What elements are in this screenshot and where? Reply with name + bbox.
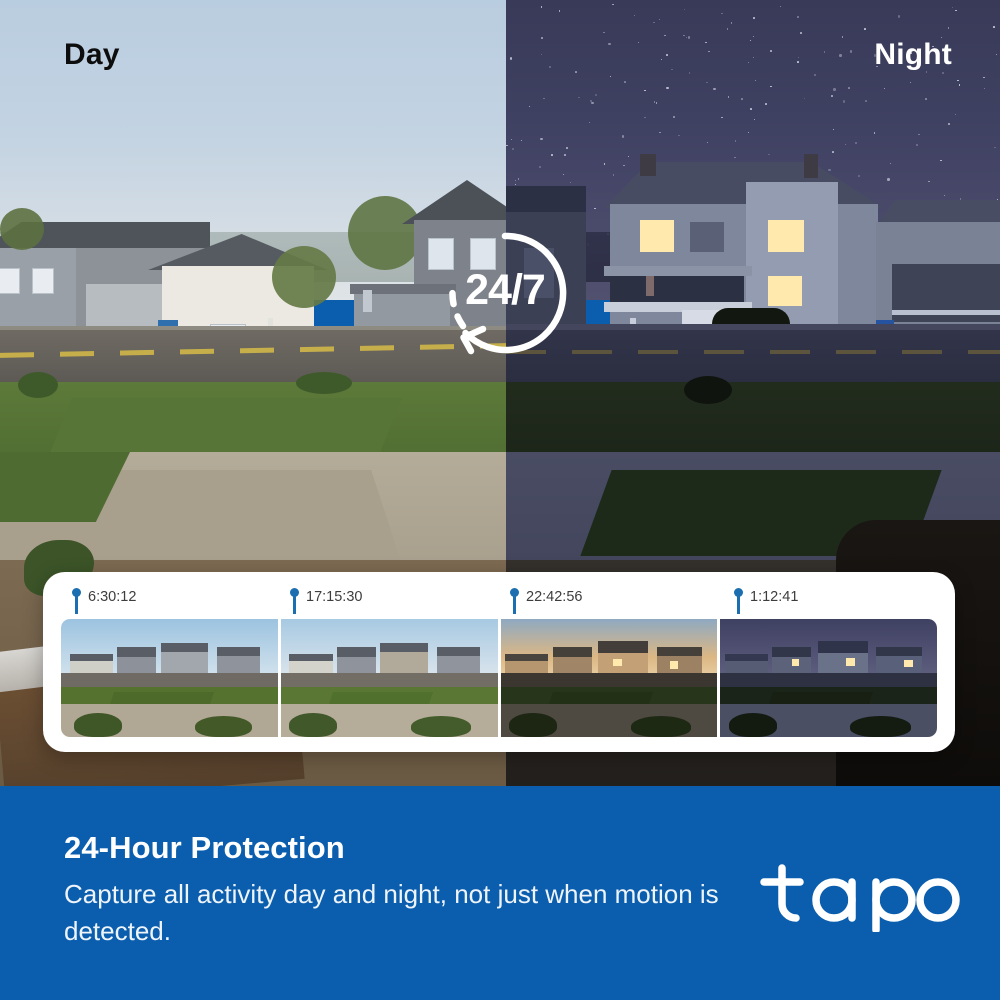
thumbnail-shrub xyxy=(74,713,122,737)
timeline-timestamp: 1:12:41 xyxy=(750,588,798,605)
thumbnail-lit-window xyxy=(904,660,913,667)
thumbnail-shrub xyxy=(850,716,911,737)
timeline-thumbnail-3[interactable] xyxy=(501,619,718,737)
tapo-logo xyxy=(752,862,964,932)
day-tree-left xyxy=(0,208,44,250)
thumbnail-lit-window xyxy=(613,659,622,666)
day-lawn-patch xyxy=(48,398,402,458)
night-window-dark xyxy=(690,222,724,252)
thumbnail-shrub xyxy=(729,713,777,737)
day-flag xyxy=(363,290,372,312)
night-road xyxy=(506,330,1000,382)
playback-timeline-card[interactable]: 6:30:12 17:15:30 22:42:56 1:12:41 xyxy=(43,572,955,752)
bottom-banner: 24-Hour Protection Capture all activity … xyxy=(0,786,1000,1000)
day-tree-mid xyxy=(272,246,336,308)
day-tree-right xyxy=(348,196,422,270)
twenty-four-seven-badge: 24/7 xyxy=(439,227,571,359)
thumbnail-shrub xyxy=(289,713,337,737)
timeline-thumbnail-2[interactable] xyxy=(281,619,498,737)
night-road-center-line xyxy=(506,350,1000,354)
night-chimney-right xyxy=(804,154,818,178)
timeline-markers: 6:30:12 17:15:30 22:42:56 1:12:41 xyxy=(61,588,937,616)
timeline-marker-1[interactable]: 6:30:12 xyxy=(71,588,136,614)
day-bush-b xyxy=(296,372,352,394)
pin-marker-icon xyxy=(71,588,81,614)
pin-marker-icon xyxy=(733,588,743,614)
thumbnail-shrub xyxy=(411,716,472,737)
thumbnail-shrub xyxy=(195,716,251,737)
day-label: Day xyxy=(64,38,120,72)
promo-graphic: Day Night 24/7 6:30:12 xyxy=(0,0,1000,1000)
thumbnail-shrub xyxy=(509,713,557,737)
tapo-wordmark-icon xyxy=(752,862,964,932)
thumbnail-lit-window xyxy=(846,658,855,666)
timeline-thumbnail-1[interactable] xyxy=(61,619,278,737)
night-flag xyxy=(646,276,654,296)
pin-marker-icon xyxy=(509,588,519,614)
timeline-timestamp: 22:42:56 xyxy=(526,588,582,605)
thumbnail-lit-window xyxy=(792,659,800,666)
pin-marker-icon xyxy=(289,588,299,614)
banner-title: 24-Hour Protection xyxy=(64,830,345,866)
timeline-timestamp: 6:30:12 xyxy=(88,588,136,605)
banner-subtitle: Capture all activity day and night, not … xyxy=(64,876,724,950)
timeline-marker-3[interactable]: 22:42:56 xyxy=(509,588,582,614)
badge-label: 24/7 xyxy=(439,224,571,356)
timeline-thumbnail-strip[interactable] xyxy=(61,619,937,737)
night-window-lit-2 xyxy=(768,220,804,252)
night-window-lit-3 xyxy=(768,276,802,306)
day-bush-a xyxy=(18,372,58,398)
timeline-marker-2[interactable]: 17:15:30 xyxy=(289,588,362,614)
thumbnail-shrub xyxy=(631,716,692,737)
timeline-marker-4[interactable]: 1:12:41 xyxy=(733,588,798,614)
night-label: Night xyxy=(874,38,952,72)
timeline-timestamp: 17:15:30 xyxy=(306,588,362,605)
timeline-thumbnail-4[interactable] xyxy=(720,619,937,737)
night-foreground-bush xyxy=(684,376,732,404)
night-chimney xyxy=(640,154,656,176)
night-window-lit-1 xyxy=(640,220,674,252)
thumbnail-lit-window xyxy=(670,661,679,668)
